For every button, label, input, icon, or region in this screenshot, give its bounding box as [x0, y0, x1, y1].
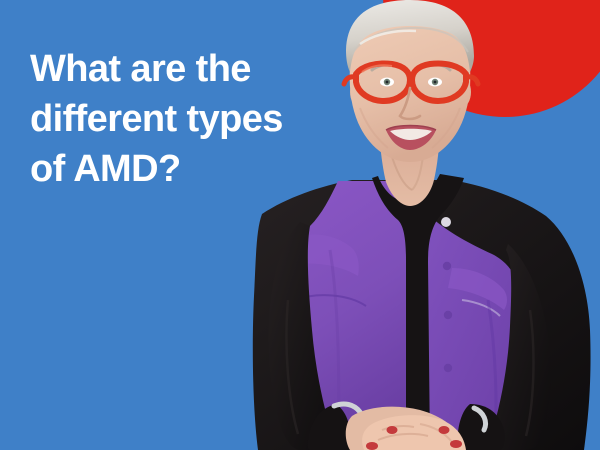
- headline-text: What are the different types of AMD?: [30, 44, 370, 194]
- video-thumbnail-slide: What are the different types of AMD?: [0, 0, 600, 450]
- headline-line-3: of AMD?: [30, 144, 370, 194]
- headline-line-1: What are the: [30, 44, 370, 94]
- headline-line-2: different types: [30, 94, 370, 144]
